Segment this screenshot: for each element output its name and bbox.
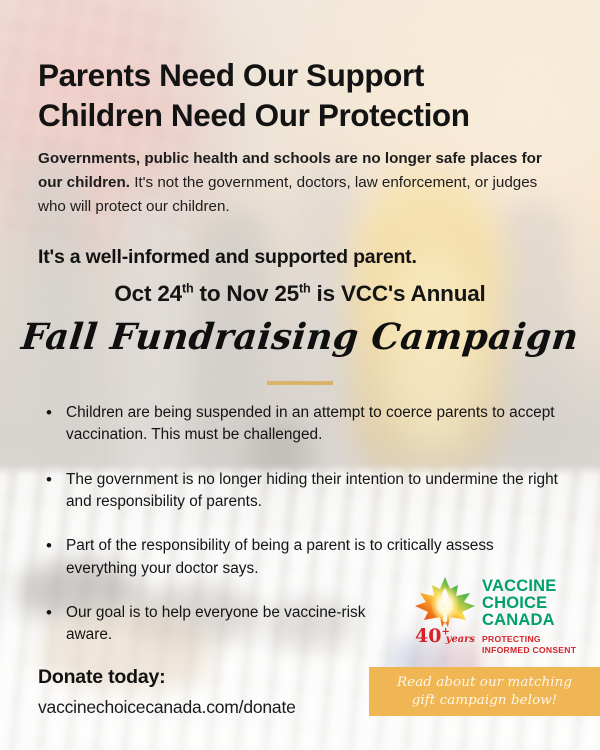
date-ordinal-1: th: [182, 282, 194, 296]
list-item: Children are being suspended in an attem…: [44, 402, 562, 447]
years-number: 40: [415, 625, 441, 647]
date-prefix: Oct 24: [114, 281, 182, 306]
logo-name-line-1: VACCINE: [482, 578, 576, 595]
matching-gift-line-2: gift campaign below!: [397, 692, 572, 709]
logo-tagline-line-1: PROTECTING: [482, 634, 576, 644]
poster-content: Parents Need Our Support Children Need O…: [0, 0, 600, 750]
logo-name: VACCINE CHOICE CANADA: [482, 578, 576, 629]
headline-line-2: Children Need Our Protection: [38, 95, 578, 135]
candle-body: [443, 604, 447, 622]
logo-tagline-line-2: INFORMED CONSENT: [482, 645, 576, 655]
headline-line-1: Parents Need Our Support: [38, 55, 578, 95]
list-item: Our goal is to help everyone be vaccine-…: [44, 602, 406, 647]
campaign-date-line: Oct 24th to Nov 25th is VCC's Annual: [0, 281, 600, 307]
logo-tagline: PROTECTING INFORMED CONSENT: [482, 634, 576, 654]
poster-canvas: Parents Need Our Support Children Need O…: [0, 0, 600, 750]
logo-text-block: VACCINE CHOICE CANADA PROTECTING INFORME…: [482, 576, 576, 655]
matching-gift-line-1: Read about our matching: [397, 674, 572, 691]
date-ordinal-2: th: [299, 282, 311, 296]
matching-gift-text: Read about our matching gift campaign be…: [397, 674, 572, 709]
logo-name-line-3: CANADA: [482, 612, 576, 629]
vaccine-choice-canada-logo: 40+years VACCINE CHOICE CANADA PROTECTIN…: [414, 576, 584, 646]
tagline: It's a well-informed and supported paren…: [38, 246, 568, 269]
list-item: The government is no longer hiding their…: [44, 469, 562, 514]
donate-heading: Donate today:: [38, 666, 165, 689]
gold-divider: [267, 381, 333, 385]
campaign-title: Fall Fundraising Campaign: [0, 316, 600, 358]
matching-gift-callout[interactable]: Read about our matching gift campaign be…: [369, 667, 600, 716]
lede-paragraph: Governments, public health and schools a…: [38, 147, 558, 218]
maple-leaf-icon: [414, 576, 476, 628]
logo-name-line-2: CHOICE: [482, 595, 576, 612]
date-suffix: is VCC's Annual: [311, 281, 486, 306]
logo-mark: 40+years: [414, 576, 476, 644]
anniversary-badge: 40+years: [414, 627, 476, 646]
date-middle: to Nov 25: [193, 281, 299, 306]
page-title: Parents Need Our Support Children Need O…: [38, 55, 578, 136]
years-word: years: [446, 634, 475, 645]
list-item: Part of the responsibility of being a pa…: [44, 535, 562, 580]
donate-link[interactable]: vaccinechoicecanada.com/donate: [38, 697, 296, 718]
